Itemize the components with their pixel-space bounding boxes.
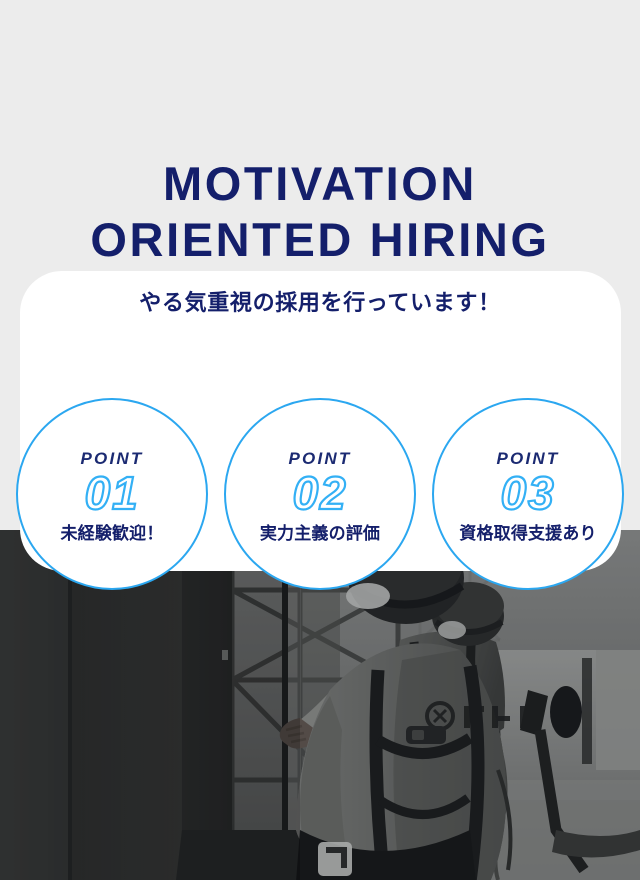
point-label-01: POINT xyxy=(81,450,144,467)
point-circle-01[interactable]: POINT 01 未経験歓迎！ xyxy=(16,398,208,590)
point-number-03: 03 xyxy=(501,469,556,517)
point-label-02: POINT xyxy=(289,450,352,467)
points-row: POINT 01 未経験歓迎！ POINT 02 実力主義の評価 POINT 0… xyxy=(0,398,640,592)
point-number-01: 01 xyxy=(85,469,140,517)
point-circle-02[interactable]: POINT 02 実力主義の評価 xyxy=(224,398,416,590)
page-root: MOTIVATION ORIENTED HIRING やる気重視の採用を行ってい… xyxy=(0,0,640,880)
point-text-01: 未経験歓迎！ xyxy=(60,524,163,544)
point-number-02: 02 xyxy=(293,469,348,517)
point-label-03: POINT xyxy=(497,450,560,467)
page-title: MOTIVATION ORIENTED HIRING xyxy=(0,160,640,263)
page-subtitle: やる気重視の採用を行っています！ xyxy=(0,289,640,318)
point-text-03: 資格取得支援あり xyxy=(459,524,596,544)
title-line-two: ORIENTED HIRING xyxy=(0,216,640,263)
point-text-02: 実力主義の評価 xyxy=(260,524,380,544)
point-circle-03[interactable]: POINT 03 資格取得支援あり xyxy=(432,398,624,590)
title-line-one: MOTIVATION xyxy=(0,160,640,207)
